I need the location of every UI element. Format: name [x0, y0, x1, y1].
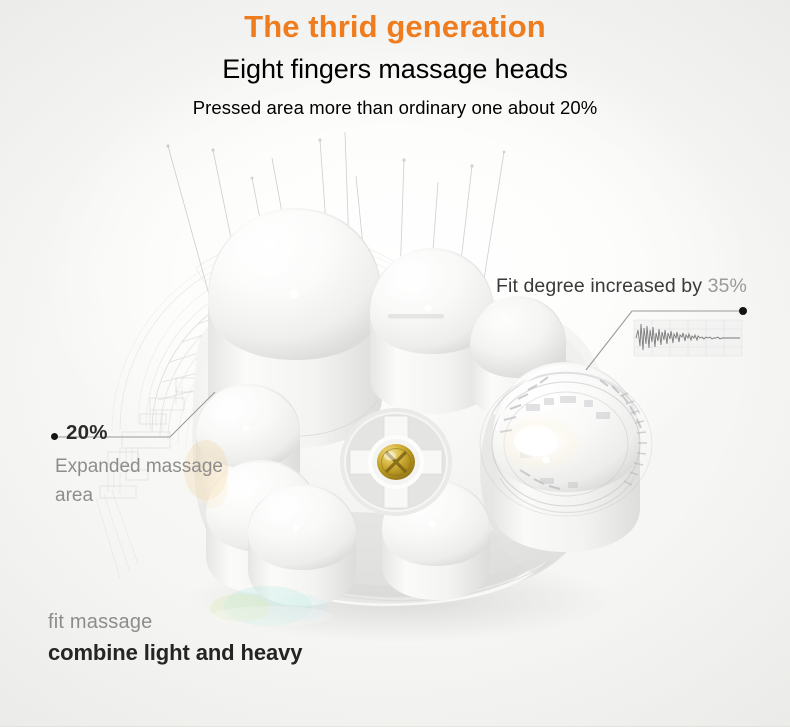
footer-line-1: fit massage — [48, 611, 152, 634]
callout-expanded-area-label: Expanded massage area — [55, 452, 230, 510]
callout-expanded-area-value: 20% — [66, 421, 108, 445]
center-hub — [340, 408, 452, 516]
headline-subtitle: Eight fingers massage heads — [0, 54, 790, 85]
headline-title: The thrid generation — [0, 9, 790, 45]
product-banner: The thrid generation Eight fingers massa… — [0, 0, 790, 727]
leader-dot-expanded-area — [51, 433, 58, 440]
callout-fit-degree-value: 35% — [708, 275, 747, 297]
hub-screw-gold — [377, 444, 415, 480]
waveform-graphic — [634, 320, 742, 356]
headline-tagline: Pressed area more than ordinary one abou… — [0, 97, 790, 119]
footer-line-2: combine light and heavy — [48, 640, 302, 666]
callout-fit-degree-label: Fit degree increased by — [496, 275, 708, 297]
callout-fit-degree: Fit degree increased by 35% — [496, 275, 747, 298]
leader-dot-fit-degree — [739, 307, 747, 315]
